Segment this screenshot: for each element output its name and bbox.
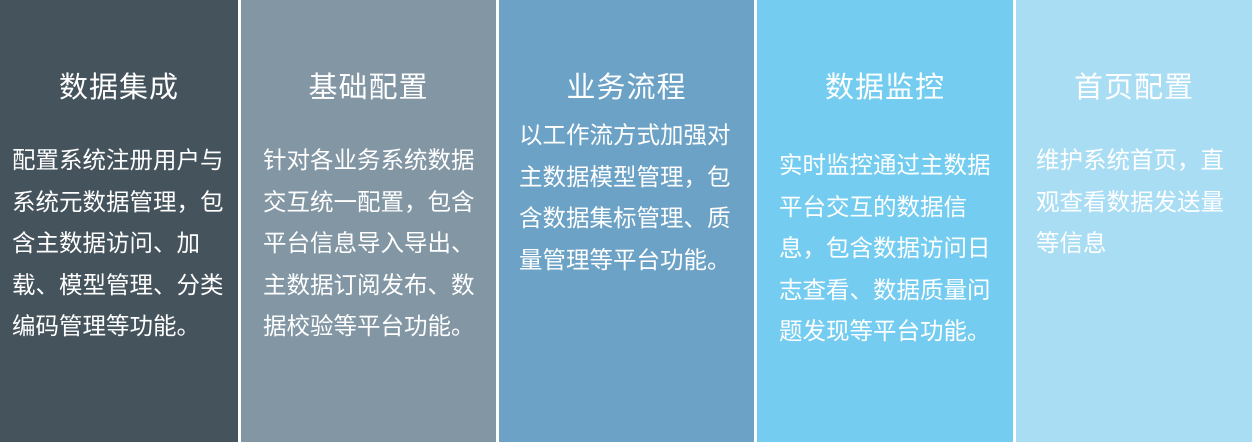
right-margin — [1252, 0, 1257, 442]
panel-basic-configuration[interactable]: 基础配置 针对各业务系统数据交互统一配置，包含平台信息导入导出、主数据订阅发布、… — [241, 0, 496, 442]
panel-homepage-configuration[interactable]: 首页配置 维护系统首页，直观查看数据发送量等信息 — [1016, 0, 1252, 442]
panel-title: 首页配置 — [1016, 71, 1252, 105]
panel-title: 业务流程 — [499, 71, 754, 105]
panel-data-integration[interactable]: 数据集成 配置系统注册用户与系统元数据管理，包含主数据访问、加载、模型管理、分类… — [0, 0, 238, 442]
panel-description: 针对各业务系统数据交互统一配置，包含平台信息导入导出、主数据订阅发布、数据校验等… — [263, 140, 483, 348]
panel-business-process[interactable]: 业务流程 以工作流方式加强对主数据模型管理，包含数据集标管理、质量管理等平台功能… — [499, 0, 754, 442]
panel-description: 以工作流方式加强对主数据模型管理，包含数据集标管理、质量管理等平台功能。 — [519, 115, 743, 281]
panel-description: 配置系统注册用户与系统元数据管理，包含主数据访问、加载、模型管理、分类编码管理等… — [12, 140, 234, 348]
panel-title: 数据集成 — [0, 71, 238, 105]
panel-data-monitoring[interactable]: 数据监控 实时监控通过主数据平台交互的数据信息，包含数据访问日志查看、数据质量问… — [757, 0, 1013, 442]
panel-description: 维护系统首页，直观查看数据发送量等信息 — [1036, 140, 1242, 265]
panel-description: 实时监控通过主数据平台交互的数据信息，包含数据访问日志查看、数据质量问题发现等平… — [779, 145, 999, 353]
panel-title: 数据监控 — [757, 71, 1013, 105]
feature-panel-strip: 数据集成 配置系统注册用户与系统元数据管理，包含主数据访问、加载、模型管理、分类… — [0, 0, 1257, 442]
panel-title: 基础配置 — [241, 71, 496, 105]
